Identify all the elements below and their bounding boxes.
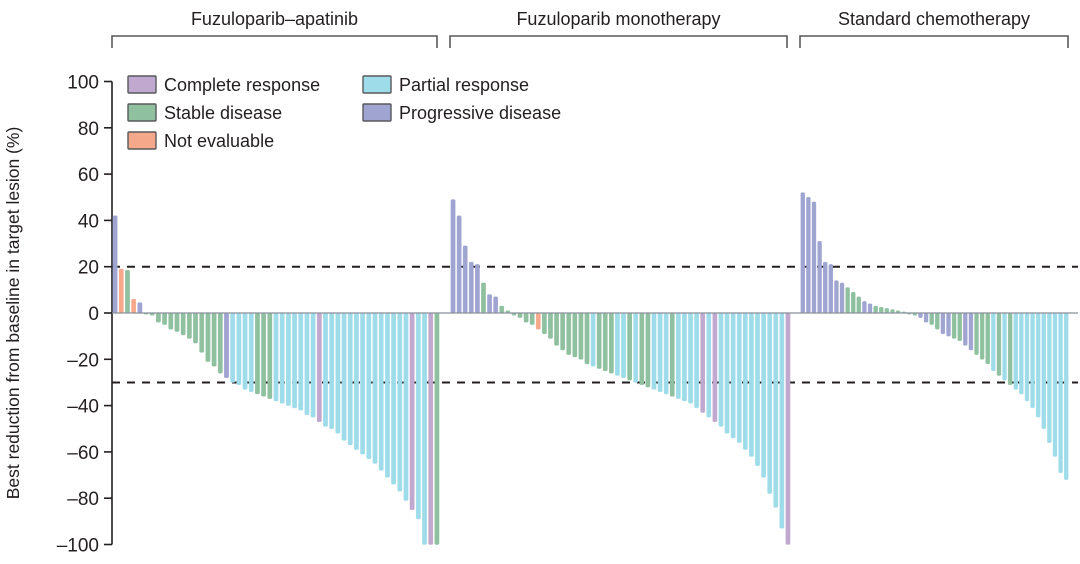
bar — [162, 313, 166, 325]
bar — [255, 313, 259, 394]
chart-svg: 100806040200–20–40–60–80–100Best reducti… — [0, 0, 1080, 564]
bar — [475, 264, 479, 313]
bar — [280, 313, 284, 403]
bar — [658, 313, 662, 392]
bar — [518, 313, 522, 318]
bar — [963, 313, 967, 345]
bar — [737, 313, 741, 443]
y-axis-tick-label: 60 — [78, 165, 99, 186]
bar — [634, 313, 638, 382]
bar — [487, 294, 491, 313]
bar — [579, 313, 583, 359]
legend-label-partial-response: Partial response — [399, 75, 529, 95]
bar — [749, 313, 753, 457]
y-axis-tick-label: –40 — [67, 397, 99, 418]
bar — [113, 216, 117, 313]
bar — [286, 313, 290, 406]
bar — [743, 313, 747, 450]
group-bracket-3 — [800, 36, 1068, 48]
bar — [713, 313, 717, 422]
bar — [862, 301, 866, 313]
bar — [119, 269, 123, 313]
y-axis-tick-label: 40 — [78, 211, 99, 232]
bar — [212, 313, 216, 366]
bar — [991, 313, 995, 371]
bar — [609, 313, 613, 373]
bar — [237, 313, 241, 385]
y-axis-tick-label: –60 — [67, 443, 99, 464]
bar — [231, 313, 235, 382]
bar — [840, 283, 844, 313]
y-axis-tick-label: 100 — [67, 73, 99, 94]
bar — [542, 313, 546, 334]
bar — [292, 313, 296, 408]
bar — [664, 313, 668, 394]
bar — [952, 313, 956, 338]
bar — [274, 313, 278, 401]
bar — [857, 297, 861, 313]
bar — [317, 313, 321, 422]
bar — [975, 313, 979, 355]
bar — [786, 313, 790, 545]
bar — [435, 313, 439, 545]
bar — [615, 313, 619, 376]
legend-label-stable-disease: Stable disease — [164, 103, 282, 123]
legend-swatch-progressive-disease — [363, 104, 391, 121]
bar — [768, 313, 772, 494]
bar — [311, 313, 315, 417]
bar — [410, 313, 414, 510]
bar — [812, 202, 816, 313]
bar — [818, 241, 822, 313]
bar — [935, 313, 939, 329]
bar — [670, 313, 674, 396]
y-axis-tick-label: 20 — [78, 258, 99, 279]
bar — [885, 308, 889, 313]
bar — [980, 313, 984, 359]
bar — [573, 313, 577, 357]
bar — [548, 313, 552, 338]
bar — [224, 313, 228, 378]
legend: Complete responsePartial responseStable … — [128, 75, 561, 151]
bar — [1014, 313, 1018, 389]
bar — [268, 313, 272, 399]
group-title-3: Standard chemotherapy — [838, 9, 1030, 29]
bar — [1036, 313, 1040, 417]
bar — [652, 313, 656, 389]
bar — [336, 313, 340, 433]
bar — [688, 313, 692, 403]
legend-label-progressive-disease: Progressive disease — [399, 103, 561, 123]
bar — [834, 281, 838, 313]
bar-group-2 — [451, 200, 790, 545]
bar — [360, 313, 364, 454]
bar — [373, 313, 377, 463]
bar — [1064, 313, 1068, 480]
bar — [354, 313, 358, 450]
y-axis-tick-label: –100 — [57, 536, 99, 557]
bar — [829, 264, 833, 313]
bar — [218, 313, 222, 373]
bar — [561, 313, 565, 350]
group-title-1: Fuzuloparib–apatinib — [191, 9, 358, 29]
legend-label-not-evaluable: Not evaluable — [164, 131, 274, 151]
bar — [243, 313, 247, 389]
legend-swatch-stable-disease — [128, 104, 156, 121]
bar — [200, 313, 204, 352]
bar — [249, 313, 253, 392]
bar — [398, 313, 402, 491]
bar — [181, 313, 185, 335]
bar — [299, 313, 303, 410]
bar — [823, 262, 827, 313]
bar — [429, 313, 433, 545]
bar — [348, 313, 352, 445]
bar — [187, 313, 191, 338]
bar-group-3 — [801, 193, 1068, 480]
bar — [193, 313, 197, 343]
bar — [986, 313, 990, 364]
group-bracket-1 — [112, 36, 437, 48]
bar — [874, 306, 878, 313]
bar — [342, 313, 346, 440]
bar — [806, 197, 810, 313]
bar — [1019, 313, 1023, 394]
bar — [919, 313, 923, 318]
bar — [640, 313, 644, 385]
bar — [138, 303, 142, 313]
bar — [719, 313, 723, 426]
bar — [1053, 313, 1057, 457]
bar — [603, 313, 607, 371]
group-title-2: Fuzuloparib monotherapy — [516, 9, 720, 29]
bar — [694, 313, 698, 408]
bar — [305, 313, 309, 415]
group-bracket-2 — [450, 36, 787, 48]
bar — [621, 313, 625, 378]
bar — [330, 313, 334, 429]
bar — [125, 270, 129, 313]
bar — [422, 313, 426, 545]
bar — [725, 313, 729, 433]
bar — [701, 313, 705, 413]
bar — [801, 193, 805, 313]
bar — [379, 313, 383, 470]
bar — [524, 313, 528, 322]
bar — [707, 313, 711, 417]
bar — [924, 313, 928, 322]
y-axis-tick-label: –20 — [67, 350, 99, 371]
bar — [597, 313, 601, 369]
bar — [868, 304, 872, 313]
bar — [554, 313, 558, 345]
bar — [1025, 313, 1029, 401]
bar — [451, 200, 455, 313]
bar — [131, 299, 135, 313]
bar — [536, 313, 540, 329]
bar — [682, 313, 686, 401]
bar — [646, 313, 650, 387]
bar — [169, 313, 173, 329]
bar — [846, 288, 850, 313]
bar — [463, 246, 467, 313]
bar — [457, 216, 461, 313]
bar — [175, 313, 179, 332]
y-axis-tick-label: 80 — [78, 119, 99, 140]
y-axis-tick-label: 0 — [88, 304, 99, 325]
bar — [958, 313, 962, 341]
bar — [591, 313, 595, 366]
bar — [1008, 313, 1012, 385]
bar — [585, 313, 589, 364]
bar — [1047, 313, 1051, 443]
bar-group-1 — [113, 216, 439, 545]
bar — [323, 313, 327, 426]
bar — [780, 313, 784, 528]
bar — [930, 313, 934, 325]
bar — [1059, 313, 1063, 473]
bar — [500, 306, 504, 313]
waterfall-plot-figure: 100806040200–20–40–60–80–100Best reducti… — [0, 0, 1080, 564]
legend-swatch-not-evaluable — [128, 132, 156, 149]
bar — [851, 292, 855, 313]
bar — [997, 313, 1001, 376]
bar — [628, 313, 632, 380]
y-axis-title: Best reduction from baseline in target l… — [3, 127, 23, 500]
bar — [941, 313, 945, 334]
bar — [391, 313, 395, 484]
bar — [404, 313, 408, 501]
bar — [755, 313, 759, 466]
bar — [261, 313, 265, 396]
legend-swatch-complete-response — [128, 76, 156, 93]
bar — [947, 313, 951, 336]
bar — [731, 313, 735, 438]
bar — [1003, 313, 1007, 380]
bar — [416, 313, 420, 519]
bar — [367, 313, 371, 459]
bar — [156, 313, 160, 322]
bar — [969, 313, 973, 350]
bar — [206, 313, 210, 362]
bar — [469, 262, 473, 313]
bar — [676, 313, 680, 399]
bar — [761, 313, 765, 477]
bar — [494, 297, 498, 313]
bar — [879, 307, 883, 313]
bar — [481, 283, 485, 313]
legend-swatch-partial-response — [363, 76, 391, 93]
bar — [1042, 313, 1046, 429]
bar — [567, 313, 571, 355]
bar — [774, 313, 778, 507]
bar — [530, 313, 534, 325]
bar — [1031, 313, 1035, 408]
y-axis-tick-label: –80 — [67, 489, 99, 510]
bar — [385, 313, 389, 477]
legend-label-complete-response: Complete response — [164, 75, 320, 95]
